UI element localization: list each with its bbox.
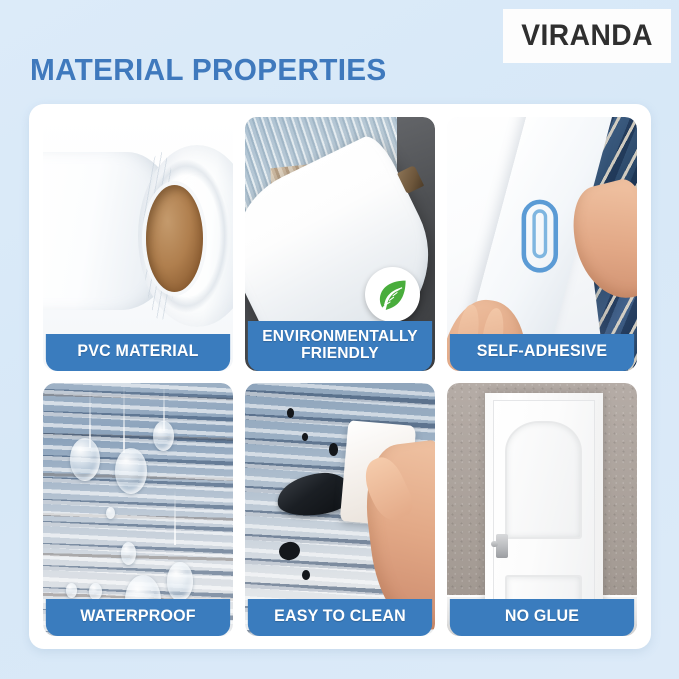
feature-card: PVC MATERIAL ENVIRONME [29, 104, 651, 649]
no-glue-door-photo [447, 383, 637, 637]
paperclip-icon [517, 193, 563, 279]
feature-label-easy-to-clean: EASY TO CLEAN [248, 599, 432, 636]
feature-cell-environmentally-friendly[interactable]: ENVIRONMENTALLY FRIENDLY [245, 117, 435, 371]
eco-leaf-icon [365, 267, 420, 322]
feature-label-waterproof: WATERPROOF [46, 599, 230, 636]
waterproof-photo [43, 383, 233, 637]
feature-cell-easy-to-clean[interactable]: EASY TO CLEAN [245, 383, 435, 637]
brand-name: VIRANDA [521, 19, 653, 53]
feature-grid: PVC MATERIAL ENVIRONME [43, 117, 637, 636]
easy-to-clean-photo [245, 383, 435, 637]
pvc-roll-photo [43, 117, 233, 371]
feature-cell-self-adhesive[interactable]: SELF-ADHESIVE [447, 117, 637, 371]
feature-label-environmentally-friendly: ENVIRONMENTALLY FRIENDLY [248, 321, 432, 371]
feature-cell-pvc-material[interactable]: PVC MATERIAL [43, 117, 233, 371]
self-adhesive-photo [447, 117, 637, 371]
feature-cell-no-glue[interactable]: NO GLUE [447, 383, 637, 637]
brand-logo-box: VIRANDA [503, 9, 671, 63]
feature-label-no-glue: NO GLUE [450, 599, 634, 636]
feature-label-self-adhesive: SELF-ADHESIVE [450, 334, 634, 371]
feature-cell-waterproof[interactable]: WATERPROOF [43, 383, 233, 637]
page-title: MATERIAL PROPERTIES [30, 52, 387, 88]
feature-label-pvc-material: PVC MATERIAL [46, 334, 230, 371]
